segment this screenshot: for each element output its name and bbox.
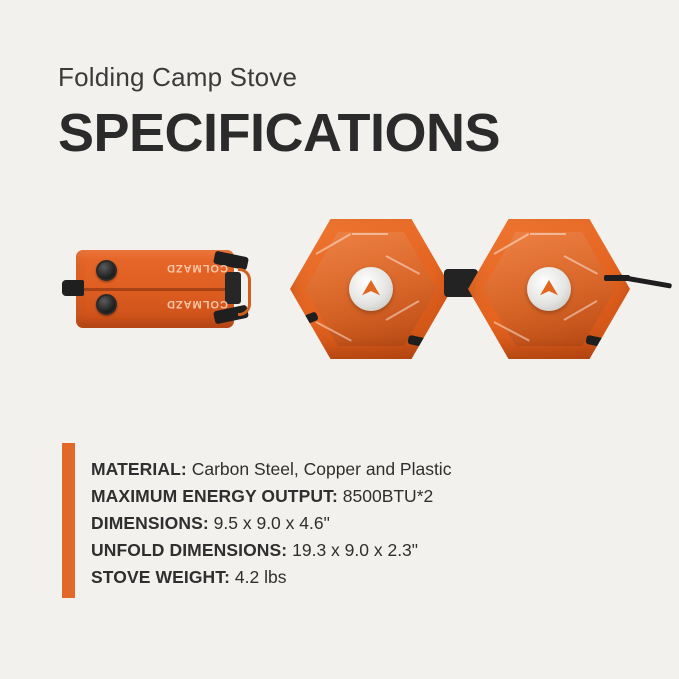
grate-line	[530, 233, 566, 235]
header: Folding Camp Stove SPECIFICATIONS	[58, 62, 618, 162]
burner-panel-left	[290, 219, 452, 359]
spec-row: STOVE WEIGHT: 4.2 lbs	[91, 564, 622, 591]
brand-text: COLMAZD	[166, 298, 228, 310]
specifications-block: MATERIAL: Carbon Steel, Copper and Plast…	[62, 443, 622, 591]
spec-value: Carbon Steel, Copper and Plastic	[192, 459, 452, 479]
spec-row: MATERIAL: Carbon Steel, Copper and Plast…	[91, 456, 622, 483]
spec-list: MATERIAL: Carbon Steel, Copper and Plast…	[91, 443, 622, 591]
spec-value: 9.5 x 9.0 x 4.6"	[214, 513, 330, 533]
spec-row: UNFOLD DIMENSIONS: 19.3 x 9.0 x 2.3"	[91, 537, 622, 564]
spec-value: 8500BTU*2	[343, 486, 433, 506]
spec-label: MATERIAL:	[91, 459, 187, 479]
spec-value: 19.3 x 9.0 x 2.3"	[292, 540, 418, 560]
brand-text: COLMAZD	[166, 262, 228, 274]
accent-bar	[62, 443, 75, 598]
latch-bracket	[62, 280, 84, 296]
support-leg	[585, 335, 608, 348]
spec-row: MAXIMUM ENERGY OUTPUT: 8500BTU*2	[91, 483, 622, 510]
grate-line	[352, 233, 388, 235]
control-knob-icon	[96, 294, 117, 315]
burner-panel-right	[468, 219, 630, 359]
page-title: SPECIFICATIONS	[58, 105, 618, 162]
carry-handle	[238, 268, 251, 316]
spec-label: STOVE WEIGHT:	[91, 567, 230, 587]
spec-value: 4.2 lbs	[235, 567, 287, 587]
unfolded-stove-image	[288, 211, 672, 371]
product-image-area: COLMAZD COLMAZD	[0, 195, 679, 395]
spec-label: DIMENSIONS:	[91, 513, 209, 533]
spec-sheet-page: Folding Camp Stove SPECIFICATIONS COLMAZ…	[0, 0, 679, 679]
spec-row: DIMENSIONS: 9.5 x 9.0 x 4.6"	[91, 510, 622, 537]
burner-head-left	[349, 267, 393, 311]
burner-head-right	[527, 267, 571, 311]
folded-stove-image: COLMAZD COLMAZD	[62, 250, 248, 328]
control-knob-icon	[96, 260, 117, 281]
spec-label: UNFOLD DIMENSIONS:	[91, 540, 287, 560]
brand-logo-icon	[540, 280, 558, 298]
folded-stove-seam	[76, 288, 234, 291]
product-subtitle: Folding Camp Stove	[58, 62, 618, 93]
spec-label: MAXIMUM ENERGY OUTPUT:	[91, 486, 338, 506]
support-leg	[295, 311, 319, 328]
brand-logo-icon	[362, 280, 380, 298]
support-leg	[407, 335, 430, 348]
